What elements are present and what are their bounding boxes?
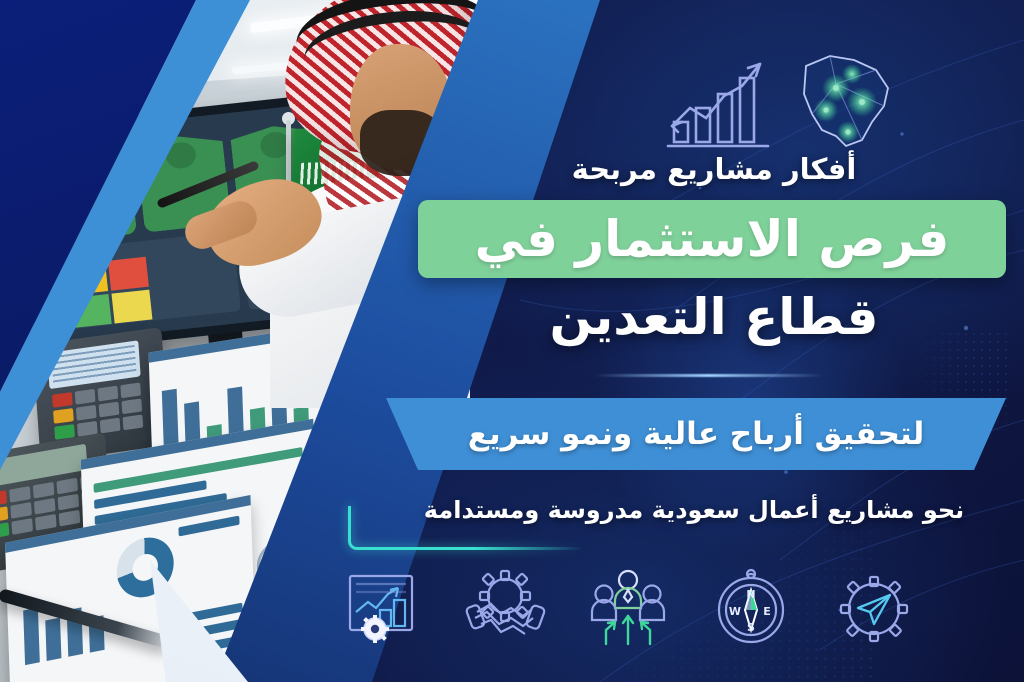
compass-label-east: E xyxy=(763,605,771,618)
compass-label-south: S xyxy=(747,621,755,634)
compass-label-west: W xyxy=(729,605,741,618)
compass-label-north: N xyxy=(746,588,755,601)
compass-icon: N S W E xyxy=(707,566,795,652)
paper-plane-gear-icon xyxy=(830,566,918,652)
bar-chart-growth-arrow-icon xyxy=(664,56,782,152)
poster-canvas: أفكار مشاريع مربحة فرص الاستثمار في قطاع… xyxy=(0,0,1024,682)
headline-highlight-badge: فرص الاستثمار في xyxy=(418,200,1006,278)
subtitle-text: نحو مشاريع أعمال سعودية مدروسة ومستدامة xyxy=(394,496,994,524)
feature-icon-row: N S W E xyxy=(338,566,918,652)
accent-bracket xyxy=(348,506,474,550)
benefit-banner-text: لتحقيق أرباح عالية ونمو سريع xyxy=(386,398,1006,470)
top-graphics-row xyxy=(656,50,906,154)
chart-gear-icon xyxy=(338,566,426,652)
headline-highlight-text: فرص الاستثمار في xyxy=(418,200,1006,278)
kicker-text: أفكار مشاريع مربحة xyxy=(434,152,994,186)
handshake-gear-icon xyxy=(461,566,549,652)
benefit-banner: لتحقيق أرباح عالية ونمو سريع xyxy=(386,398,1006,470)
saudi-arabia-map-icon xyxy=(792,44,904,156)
team-growth-icon xyxy=(584,566,672,652)
headline-second-line: قطاع التعدين xyxy=(434,288,994,346)
headline-underline-glow xyxy=(594,374,824,377)
